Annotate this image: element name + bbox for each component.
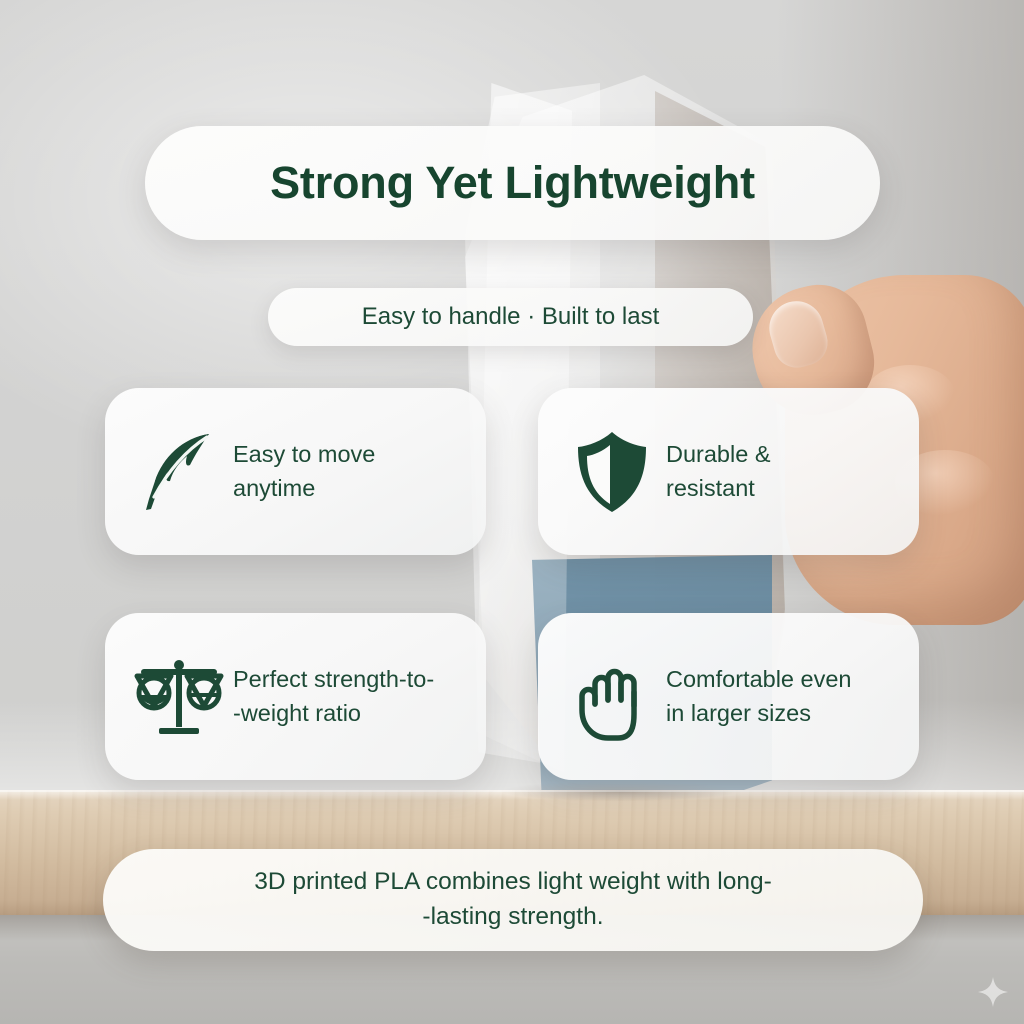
- feature-label-line2: resistant: [666, 472, 771, 505]
- feature-card-easy-to-move[interactable]: Easy to move anytime: [105, 388, 486, 555]
- page-subtitle: Easy to handle · Built to last: [362, 303, 660, 331]
- feature-card-durable[interactable]: Durable & resistant: [538, 388, 919, 555]
- footer-banner: 3D printed PLA combines light weight wit…: [103, 849, 923, 951]
- feature-label: Durable & resistant: [666, 438, 771, 505]
- feature-label-line1: Comfortable even: [666, 663, 852, 696]
- feature-label-line2: in larger sizes: [666, 697, 852, 730]
- feature-card-comfortable[interactable]: Comfortable even in larger sizes: [538, 613, 919, 780]
- feature-label-line1: Durable &: [666, 438, 771, 471]
- footer-caption-line1: 3D printed PLA combines light weight wit…: [254, 865, 772, 900]
- title-pill: Strong Yet Lightweight: [145, 126, 880, 240]
- feature-label-line2: anytime: [233, 472, 375, 505]
- shield-icon: [560, 420, 664, 524]
- feature-card-strength-to-weight[interactable]: Perfect strength-to- -weight ratio: [105, 613, 486, 780]
- feature-label-line2: -weight ratio: [233, 697, 434, 730]
- feature-label: Easy to move anytime: [233, 438, 375, 505]
- footer-caption: 3D printed PLA combines light weight wit…: [194, 865, 832, 935]
- hand-icon: [560, 645, 664, 749]
- feature-label-line1: Easy to move: [233, 438, 375, 471]
- footer-caption-line2: -lasting strength.: [254, 900, 772, 935]
- feature-label-line1: Perfect strength-to-: [233, 663, 434, 696]
- feature-label: Perfect strength-to- -weight ratio: [233, 663, 434, 730]
- feather-icon: [127, 420, 231, 524]
- sparkle-icon: [978, 977, 1008, 1007]
- subtitle-pill: Easy to handle · Built to last: [268, 288, 753, 346]
- page-title: Strong Yet Lightweight: [270, 157, 755, 209]
- feature-label: Comfortable even in larger sizes: [666, 663, 852, 730]
- scales-icon: [127, 645, 231, 749]
- infographic-canvas: Strong Yet Lightweight Easy to handle · …: [0, 0, 1024, 1024]
